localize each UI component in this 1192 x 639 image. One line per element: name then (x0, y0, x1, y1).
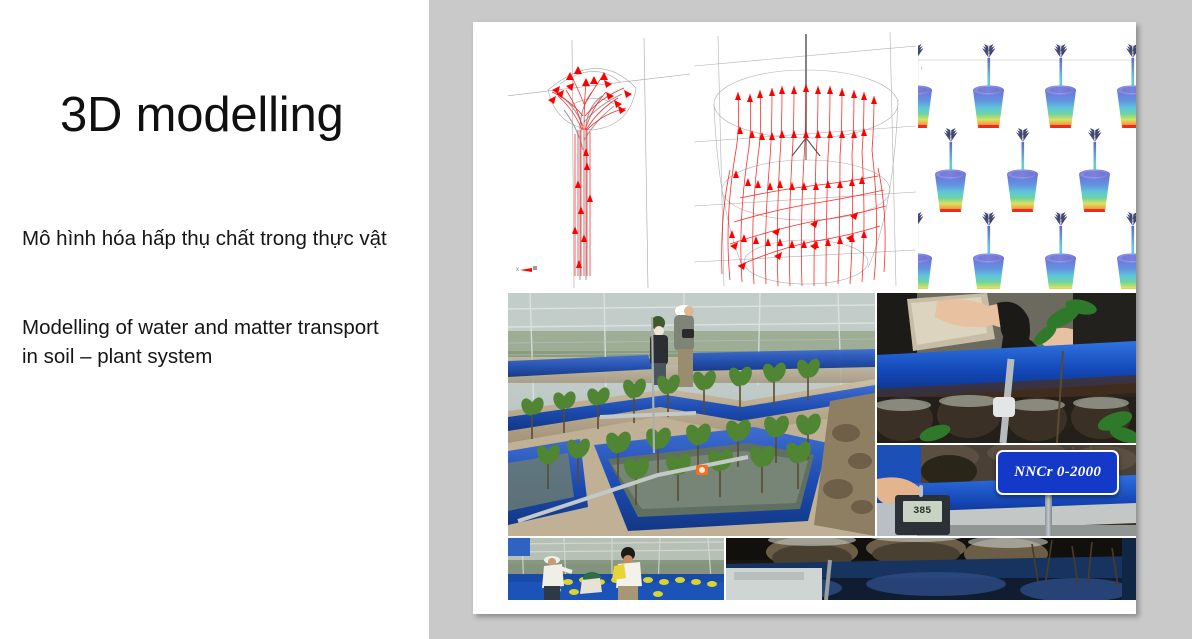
axis-label-x: x (516, 267, 519, 273)
meter-probe-icon (919, 485, 923, 497)
body-text-vietnamese: Mô hình hóa hấp thụ chất trong thực vật (22, 225, 392, 254)
greenhouse-mesocosm-overview (508, 293, 875, 536)
page-title: 3D modelling (60, 90, 420, 141)
submerged-soil-bags (726, 538, 1136, 600)
greenhouse-photo-svg (508, 293, 875, 536)
submerged-bags-photo-svg (726, 538, 1136, 600)
root-streamline-svg (694, 30, 916, 289)
plant-shoot-vector-field: x (508, 30, 692, 289)
meter-display: 385 (903, 501, 942, 522)
meter-reading: 385 (913, 506, 931, 517)
root-uptake-streamlines (694, 30, 916, 289)
pot-grid-svg: r (918, 30, 1136, 289)
body-text-english: Modelling of water and matter transport … (22, 314, 392, 371)
svg-text:r: r (921, 66, 923, 72)
shoot-vector-svg (508, 30, 692, 289)
treatment-label-and-meter: NNCr 0-2000 385 (877, 445, 1136, 536)
nursery-workers (508, 538, 724, 600)
soil-bag-photo-svg (877, 293, 1136, 443)
slide-card: x (473, 22, 1136, 614)
status-badge: NNCr 0-2000 (996, 450, 1119, 495)
nursery-photo-svg (508, 538, 724, 600)
model-render-row: x (508, 30, 1136, 289)
pot-concentration-grid: r (918, 30, 1136, 289)
slide-stage: 3D modelling Mô hình hóa hấp thụ chất tr… (0, 0, 1192, 639)
slide-canvas-background: x (429, 0, 1192, 639)
handheld-meter: 385 (895, 495, 949, 535)
detail-photo-row (508, 538, 1136, 600)
image-collage: x (508, 30, 1136, 600)
sign-post (1045, 491, 1052, 537)
slide-text-pane: 3D modelling Mô hình hóa hấp thụ chất tr… (0, 0, 429, 639)
soil-bag-handling (877, 293, 1136, 443)
treatment-sign-label: NNCr 0-2000 (1014, 464, 1101, 481)
field-photo-row: NNCr 0-2000 385 (508, 293, 1136, 536)
